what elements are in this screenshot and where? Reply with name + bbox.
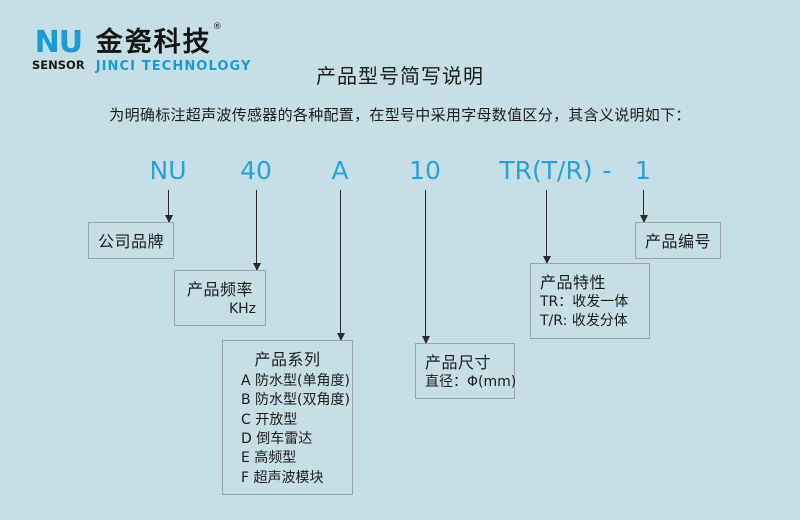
product-series-item-4: E 高频型 — [232, 449, 343, 468]
box-product-frequency-title: 产品频率 — [184, 276, 256, 300]
logo-company-name-cn-text: 金瓷科技 — [96, 27, 212, 58]
model-code-part-5: - — [602, 156, 611, 185]
model-code-part-1: 40 — [240, 156, 272, 185]
product-series-list: A 防水型(单角度)B 防水型(双角度)C 开放型D 倒车雷达E 高频型F 超声… — [232, 372, 343, 488]
box-product-number: 产品编号 — [635, 222, 721, 259]
model-code-part-3: 10 — [409, 156, 441, 185]
connector-size — [425, 190, 426, 343]
box-product-frequency-unit: KHz — [184, 300, 256, 319]
model-code-part-4: TR(T/R) — [499, 156, 592, 185]
box-product-feature-tr: TR：收发一体 — [540, 293, 640, 312]
box-product-series: 产品系列 A 防水型(单角度)B 防水型(双角度)C 开放型D 倒车雷达E 高频… — [222, 340, 353, 495]
box-product-size-title: 产品尺寸 — [425, 349, 505, 373]
connector-feature — [546, 190, 547, 263]
connector-freq — [256, 190, 257, 270]
box-company-brand: 公司品牌 — [88, 222, 174, 259]
connector-series — [340, 190, 341, 340]
product-series-item-1: B 防水型(双角度) — [232, 391, 343, 410]
logo-company-name-cn: 金瓷科技® — [96, 29, 252, 57]
box-product-feature-t-r: T/R: 收发分体 — [540, 312, 640, 331]
product-series-item-5: F 超声波模块 — [232, 469, 343, 488]
connector-number — [643, 190, 644, 222]
model-code-part-6: 1 — [635, 156, 651, 185]
model-code-part-0: NU — [150, 156, 187, 185]
box-product-frequency: 产品频率 KHz — [174, 270, 266, 326]
box-product-series-title: 产品系列 — [232, 346, 343, 370]
page-title: 产品型号简写说明 — [0, 60, 800, 89]
page-subtitle: 为明确标注超声波传感器的各种配置，在型号中采用字母数值区分，其含义说明如下： — [0, 104, 800, 125]
logo-nu-text: NU — [35, 29, 82, 58]
box-product-size-diameter: 直径：Φ(mm) — [425, 373, 505, 392]
product-series-item-0: A 防水型(单角度) — [232, 372, 343, 391]
registered-trademark-icon: ® — [213, 22, 224, 32]
box-product-number-title: 产品编号 — [645, 228, 711, 252]
product-series-item-3: D 倒车雷达 — [232, 430, 343, 449]
box-product-feature-title: 产品特性 — [540, 269, 640, 293]
box-company-brand-title: 公司品牌 — [98, 228, 164, 252]
product-series-item-2: C 开放型 — [232, 411, 343, 430]
model-code-part-2: A — [331, 156, 348, 185]
box-product-size: 产品尺寸 直径：Φ(mm) — [415, 343, 515, 399]
connector-brand — [168, 190, 169, 222]
box-product-feature: 产品特性 TR：收发一体 T/R: 收发分体 — [530, 263, 650, 339]
